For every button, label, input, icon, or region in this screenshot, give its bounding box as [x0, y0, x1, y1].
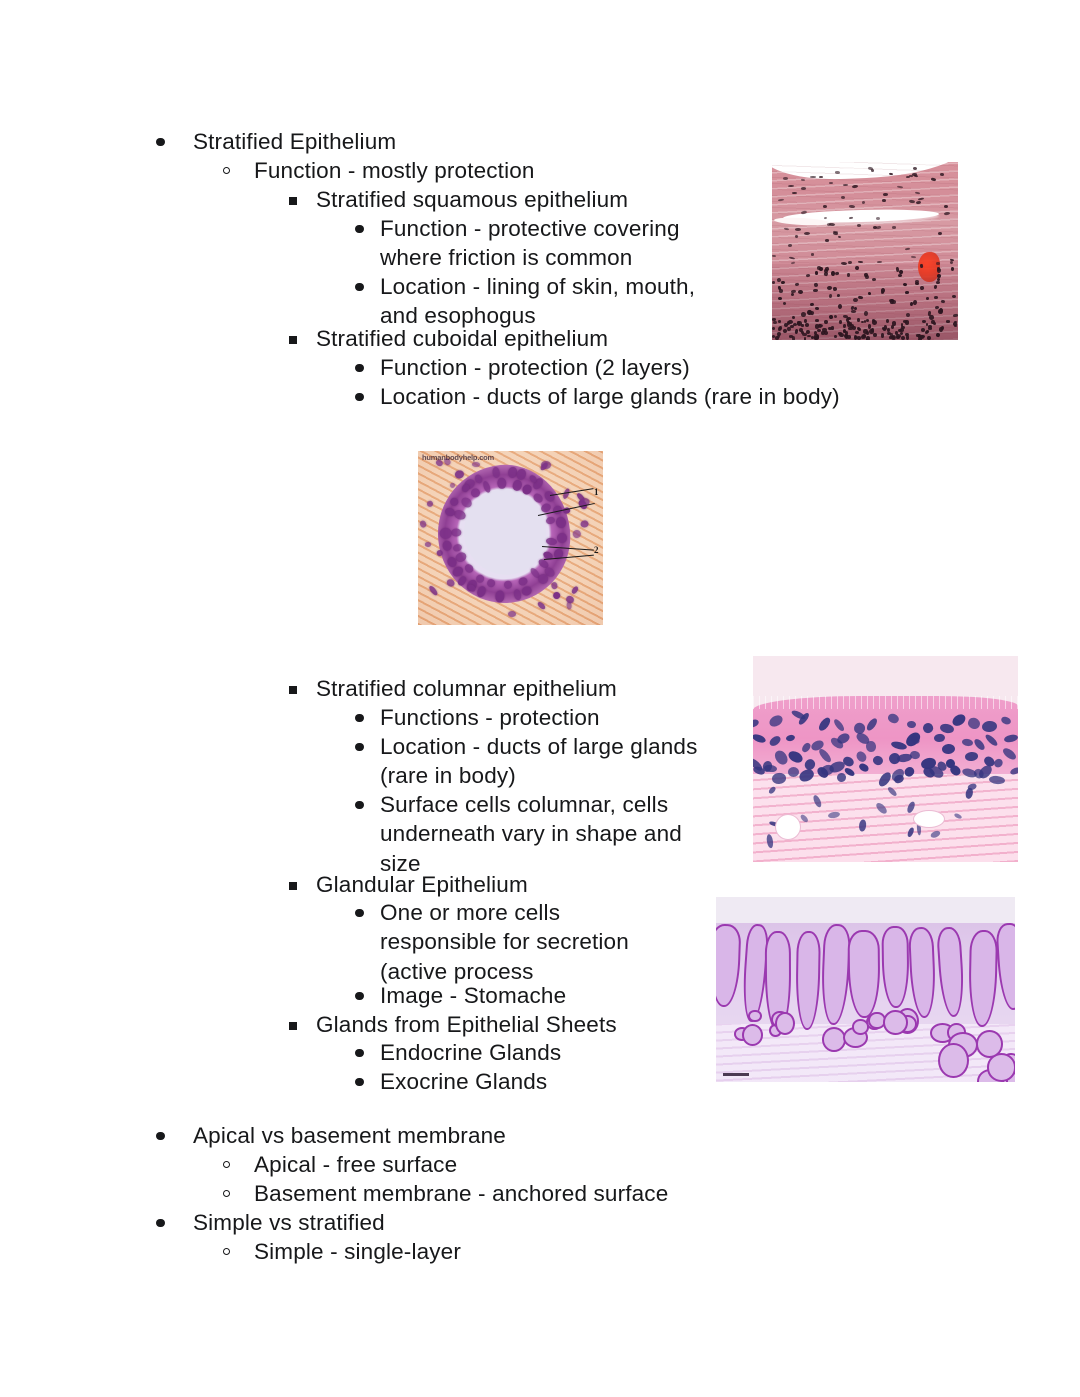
- list-item: Apical vs basement membrane: [0, 1121, 506, 1150]
- list-item: Glandular Epithelium: [0, 870, 528, 899]
- bullet-disc-icon: [156, 138, 165, 147]
- list-item: Function - protection (2 layers): [0, 353, 690, 382]
- list-item: Functions - protection: [0, 703, 600, 732]
- bullet-disc-icon: [355, 1078, 364, 1087]
- list-item: Function - mostly protection: [0, 156, 535, 185]
- figure-label-2: 2: [594, 545, 599, 555]
- list-item-text: Stratified Epithelium: [193, 127, 396, 156]
- list-item-text: Glandular Epithelium: [316, 870, 528, 899]
- list-item: Location - ducts of large glands (rare i…: [0, 382, 840, 411]
- bullet-square-icon: [289, 336, 297, 344]
- list-item: Stratified columnar epithelium: [0, 674, 617, 703]
- list-item-text: Glands from Epithelial Sheets: [316, 1010, 617, 1039]
- figure-stratified-columnar-micrograph: [753, 656, 1018, 862]
- bullet-circle-icon: [223, 1161, 230, 1168]
- cell-nuclei-group: [772, 152, 958, 340]
- list-item-text: Location - ducts of large glands (rare i…: [380, 732, 698, 791]
- bullet-disc-icon: [355, 1049, 364, 1058]
- list-item-text: Function - protection (2 layers): [380, 353, 690, 382]
- list-item-text: Stratified columnar epithelium: [316, 674, 617, 703]
- list-item-text: One or more cells responsible for secret…: [380, 898, 629, 986]
- list-item: Apical - free surface: [0, 1150, 457, 1179]
- list-item-text: Function - protective covering where fri…: [380, 214, 680, 273]
- bullet-disc-icon: [355, 225, 364, 234]
- list-item: Endocrine Glands: [0, 1038, 561, 1067]
- list-item-text: Image - Stomache: [380, 981, 566, 1010]
- bullet-square-icon: [289, 686, 297, 694]
- list-item-text: Apical - free surface: [254, 1150, 457, 1179]
- vessel-lumen: [775, 814, 801, 840]
- bullet-disc-icon: [355, 283, 364, 292]
- scale-bar: [723, 1073, 749, 1076]
- list-item: Stratified squamous epithelium: [0, 185, 628, 214]
- cell-nuclei-group: [418, 451, 603, 625]
- list-item: Simple vs stratified: [0, 1208, 385, 1237]
- bullet-circle-icon: [223, 167, 230, 174]
- list-item-text: Functions - protection: [380, 703, 600, 732]
- image-watermark: humanbodyhelp.com: [422, 453, 494, 462]
- bullet-disc-icon: [355, 743, 364, 752]
- list-item-text: Basement membrane - anchored surface: [254, 1179, 668, 1208]
- figure-stratified-cuboidal-duct-micrograph: humanbodyhelp.com 1 2: [418, 451, 603, 625]
- list-item: Function - protective covering where fri…: [0, 214, 680, 273]
- list-item-text: Endocrine Glands: [380, 1038, 561, 1067]
- list-item-text: Simple vs stratified: [193, 1208, 385, 1237]
- bullet-disc-icon: [355, 801, 364, 810]
- bullet-disc-icon: [156, 1219, 165, 1228]
- list-item-text: Location - lining of skin, mouth, and es…: [380, 272, 695, 331]
- list-item-text: Surface cells columnar, cells underneath…: [380, 790, 682, 878]
- vessel-lumen: [913, 810, 945, 828]
- list-item-text: Exocrine Glands: [380, 1067, 547, 1096]
- list-item-text: Function - mostly protection: [254, 156, 535, 185]
- figure-stratified-squamous-micrograph: [772, 152, 958, 340]
- document-page: Stratified Epithelium Function - mostly …: [0, 0, 1080, 1397]
- bullet-disc-icon: [355, 909, 364, 918]
- list-item: Surface cells columnar, cells underneath…: [0, 790, 682, 878]
- bullet-circle-icon: [223, 1248, 230, 1255]
- list-item-text: Stratified cuboidal epithelium: [316, 324, 608, 353]
- list-item: Exocrine Glands: [0, 1067, 547, 1096]
- bullet-disc-icon: [156, 1132, 165, 1141]
- figure-stomach-glandular-micrograph: [716, 897, 1015, 1082]
- figure-label-1: 1: [594, 487, 599, 497]
- list-item: Location - ducts of large glands (rare i…: [0, 732, 698, 791]
- list-item: One or more cells responsible for secret…: [0, 898, 629, 986]
- list-item: Basement membrane - anchored surface: [0, 1179, 668, 1208]
- bullet-square-icon: [289, 1022, 297, 1030]
- list-item-text: Stratified squamous epithelium: [316, 185, 628, 214]
- bullet-square-icon: [289, 882, 297, 890]
- bullet-disc-icon: [355, 714, 364, 723]
- list-item: Simple - single-layer: [0, 1237, 461, 1266]
- list-item: Stratified cuboidal epithelium: [0, 324, 608, 353]
- bullet-square-icon: [289, 197, 297, 205]
- gastric-pits-group: [716, 897, 1015, 1082]
- list-item-text: Location - ducts of large glands (rare i…: [380, 382, 840, 411]
- list-item-text: Simple - single-layer: [254, 1237, 461, 1266]
- bullet-circle-icon: [223, 1190, 230, 1197]
- list-item: Location - lining of skin, mouth, and es…: [0, 272, 695, 331]
- list-item: Image - Stomache: [0, 981, 566, 1010]
- bullet-disc-icon: [355, 364, 364, 373]
- list-item: Stratified Epithelium: [0, 127, 396, 156]
- bullet-disc-icon: [355, 393, 364, 402]
- bullet-disc-icon: [355, 992, 364, 1001]
- list-item: Glands from Epithelial Sheets: [0, 1010, 617, 1039]
- list-item-text: Apical vs basement membrane: [193, 1121, 506, 1150]
